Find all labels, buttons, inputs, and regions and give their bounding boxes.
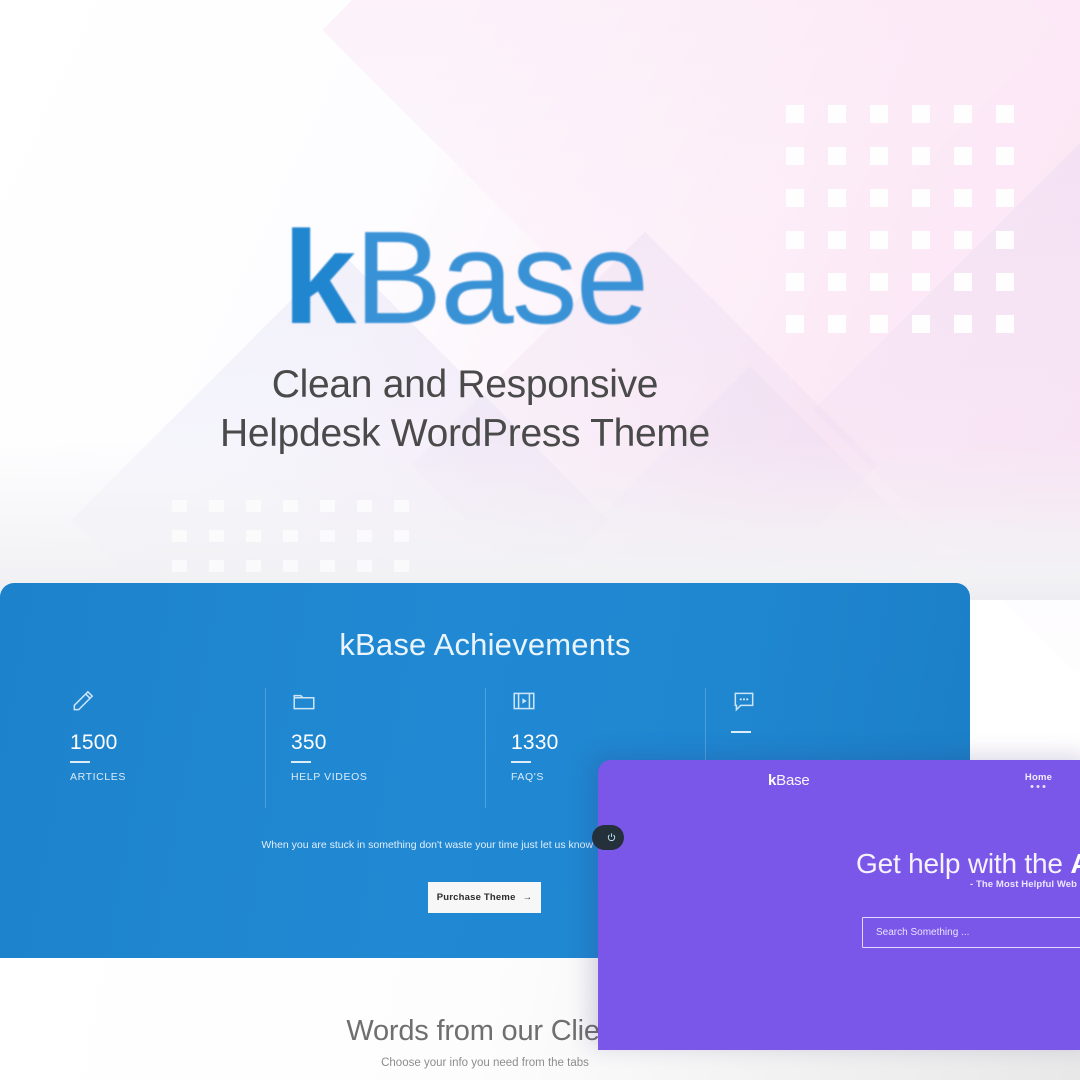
stat-underline [70,761,90,763]
grid-dot [996,105,1014,123]
grid-dot [954,105,972,123]
card-headline-light: Get help with the [856,848,1070,879]
grid-dot [954,315,972,333]
brand-logo: kBase [0,212,930,344]
comment-icon [731,688,757,714]
grid-dot [828,147,846,165]
card-brand-logo-light: Base [776,772,809,789]
grid-dot [954,147,972,165]
stat-value: 1500 [70,731,265,755]
grid-dot [246,500,261,512]
card-nav-links: Home Blog [1025,772,1080,783]
grid-dot [320,500,335,512]
brand-logo-light: Base [354,204,647,351]
grid-dot [246,560,261,572]
arrow-right-icon: → [523,892,533,903]
card-brand-logo-bold: k [768,772,776,789]
hero-tagline: Clean and Responsive Helpdesk WordPress … [0,360,930,458]
stat-underline [731,731,751,733]
card-headline-bold: Adva [1070,848,1080,879]
grid-dot [394,560,409,572]
grid-dot [357,560,372,572]
active-indicator-dots [1031,785,1046,788]
grid-dot [912,147,930,165]
hero-tagline-line-2: Helpdesk WordPress Theme [0,409,930,458]
stat-item: 1500 ARTICLES [45,688,265,808]
grid-dot [394,530,409,542]
grid-dot [954,231,972,249]
grid-dot [996,273,1014,291]
purchase-theme-label: Purchase Theme [437,892,516,903]
grid-dot [870,105,888,123]
power-icon [606,832,617,843]
card-brand-logo[interactable]: kBase [768,772,810,789]
hero-tagline-line-1: Clean and Responsive [0,360,930,409]
grid-dot [283,500,298,512]
grid-dot [172,560,187,572]
grid-dot [996,189,1014,207]
stat-underline [511,761,531,763]
browser-preview-card: kBase Home Blog Get help with the Adva -… [598,760,1080,1050]
grid-dot [786,147,804,165]
grid-dot [996,231,1014,249]
grid-dot [912,105,930,123]
grid-dot [786,105,804,123]
grid-dot [828,105,846,123]
stat-label: ARTICLES [70,771,265,783]
brand-logo-bold: k [283,204,354,351]
nav-item-home-label: Home [1025,772,1052,783]
card-headline: Get help with the Adva [598,848,1080,880]
grid-dot [996,147,1014,165]
grid-dot [394,500,409,512]
grid-dot [954,273,972,291]
grid-dot [209,530,224,542]
grid-dot [996,315,1014,333]
promo-graphic: kBase Clean and Responsive Helpdesk Word… [0,0,1080,1080]
grid-dot [209,560,224,572]
video-icon [511,688,537,714]
grid-dot [912,189,930,207]
grid-dot [283,530,298,542]
power-toggle-button[interactable] [592,825,624,850]
grid-dot [954,189,972,207]
grid-dot [357,530,372,542]
search-input[interactable] [862,917,1080,948]
grid-dot [828,189,846,207]
grid-dot [283,560,298,572]
purchase-theme-button[interactable]: Purchase Theme → [428,882,541,913]
grid-dot [172,530,187,542]
grid-dot [357,500,372,512]
stat-value: 350 [291,731,485,755]
stat-underline [291,761,311,763]
grid-dot [172,500,187,512]
grid-dot [246,530,261,542]
grid-dot [786,189,804,207]
testimonials-subtitle: Choose your info you need from the tabs [0,1057,970,1069]
hero-bottom-fade [0,440,1080,600]
stat-label: HELP VIDEOS [291,771,485,783]
folder-icon [291,688,317,714]
dot-grid-left [172,500,431,590]
grid-dot [320,560,335,572]
stat-value: 1330 [511,731,705,755]
achievements-title: kBase Achievements [0,627,970,663]
pencil-icon [70,688,96,714]
grid-dot [870,189,888,207]
card-navbar: kBase Home Blog [598,760,1080,804]
card-subtitle: - The Most Helpful Web Se [598,879,1080,890]
grid-dot [209,500,224,512]
grid-dot [870,147,888,165]
grid-dot [320,530,335,542]
stat-item: 350 HELP VIDEOS [265,688,485,808]
nav-item-home[interactable]: Home [1025,772,1052,783]
